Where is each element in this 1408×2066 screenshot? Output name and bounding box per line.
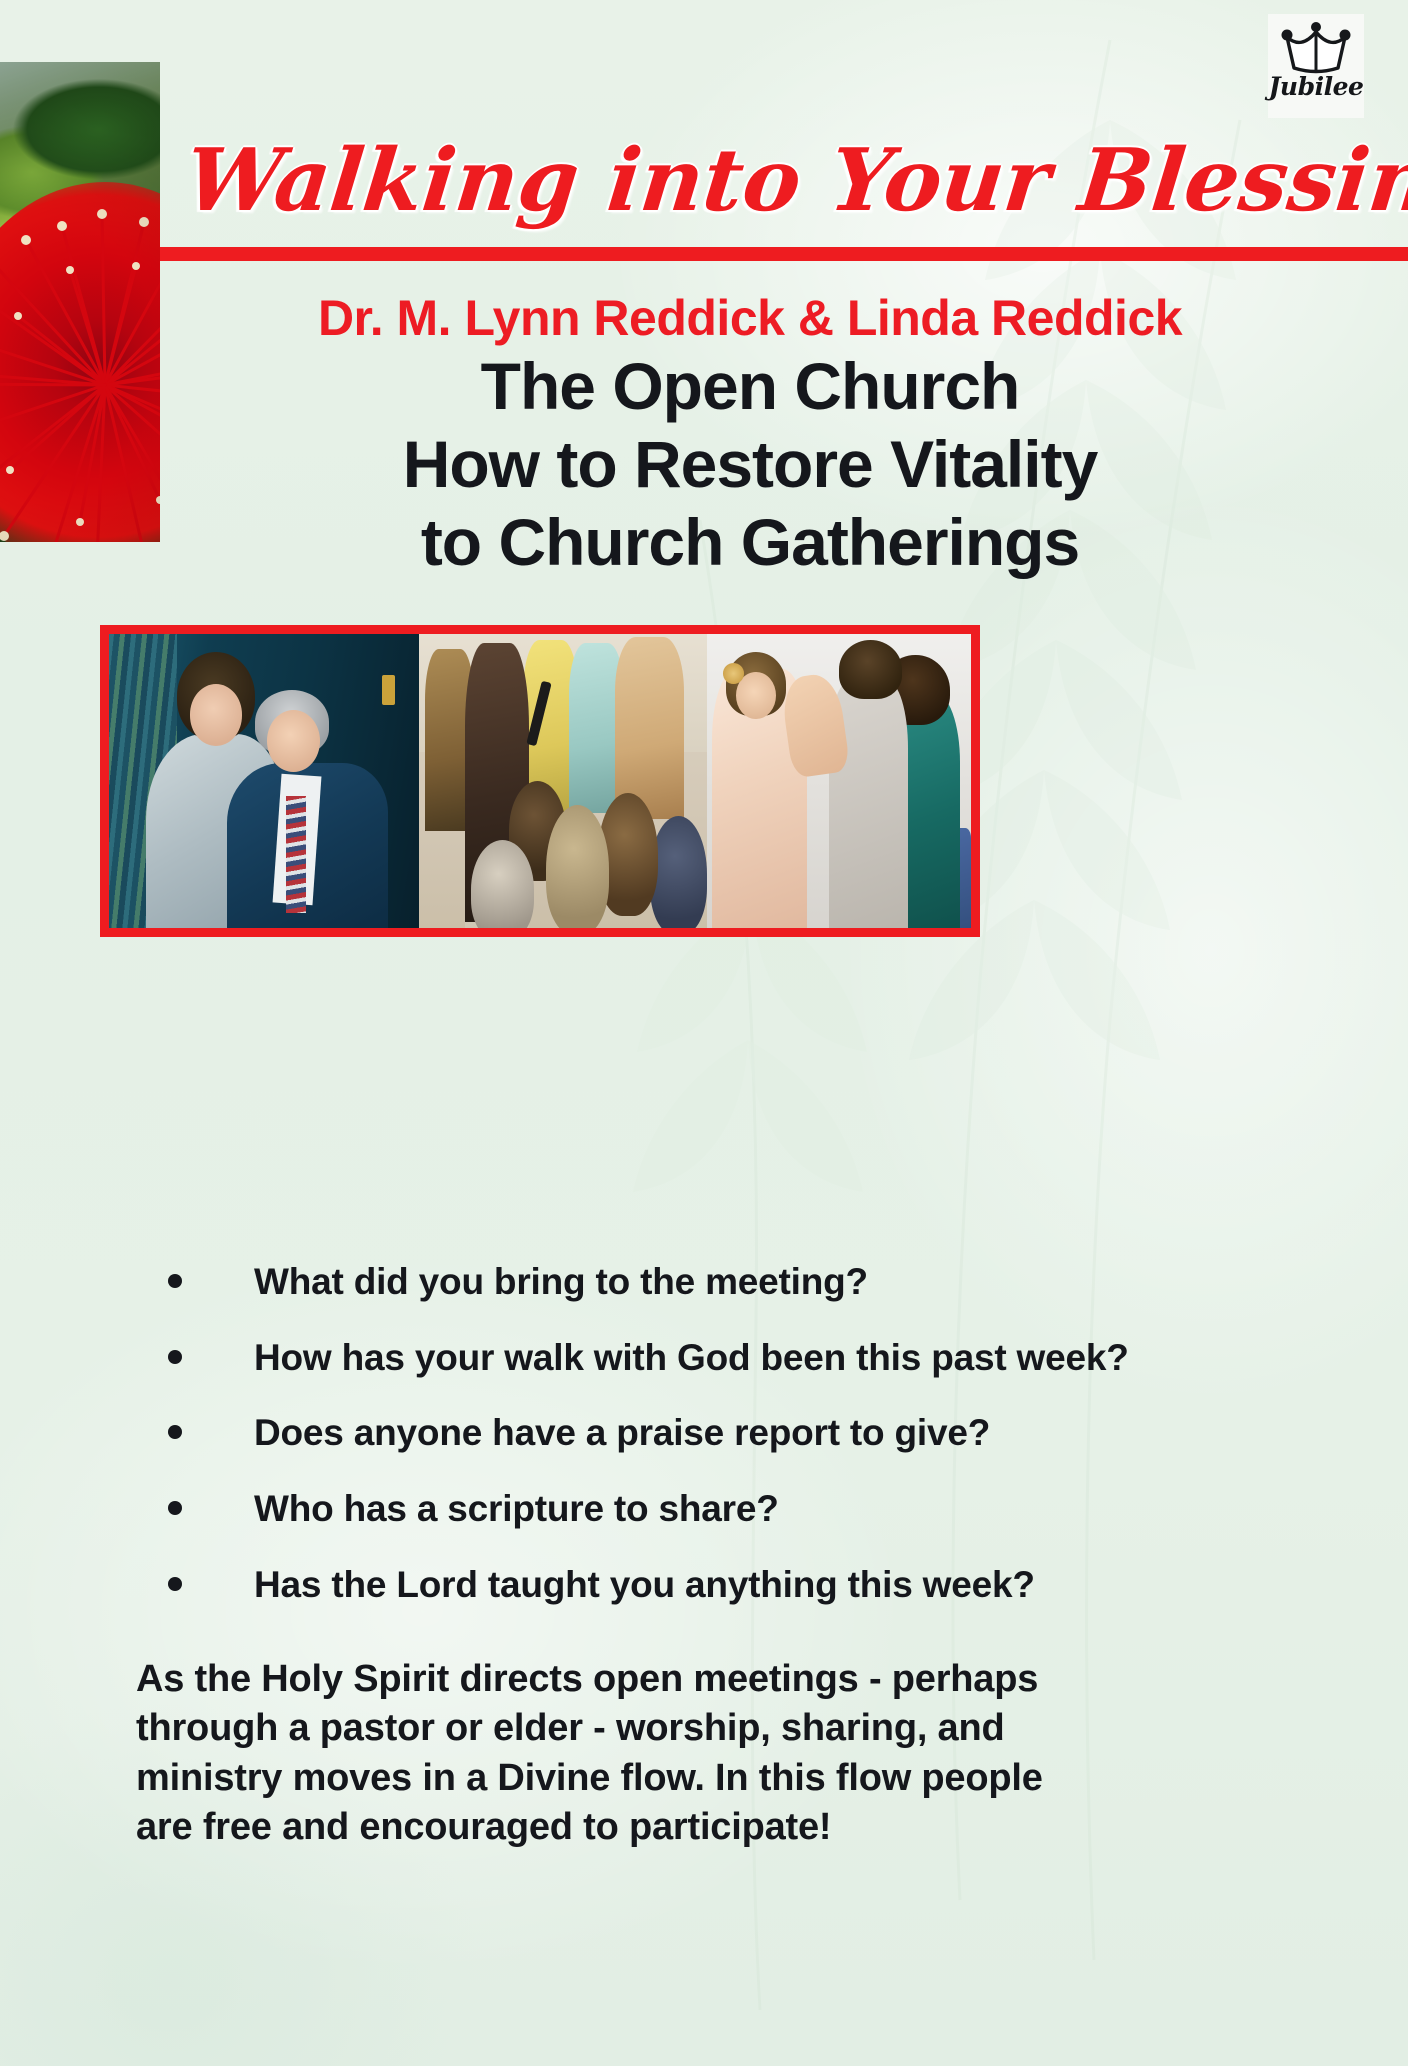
bullet-dot-icon [168, 1425, 182, 1439]
paragraph-line-1: As the Holy Spirit directs open meetings… [136, 1655, 1316, 1704]
title-line-1: The Open Church [160, 348, 1340, 426]
bullet-label: Has the Lord taught you anything this we… [254, 1565, 1035, 1606]
photo-couple-portrait [109, 634, 419, 928]
bullet-dot-icon [168, 1577, 182, 1591]
title-divider [160, 247, 1408, 261]
paragraph-line-4: are free and encouraged to participate! [136, 1803, 1316, 1852]
title-line-2: How to Restore Vitality [160, 426, 1340, 504]
photo2-audience-head-2 [546, 805, 609, 928]
photo2-figure-5 [615, 637, 684, 819]
list-item: How has your walk with God been this pas… [168, 1338, 1288, 1379]
pohutukawa-flower-photo [0, 62, 160, 542]
title-line-3: to Church Gatherings [160, 504, 1340, 582]
jubilee-logo: Jubilee [1268, 14, 1364, 118]
list-item: What did you bring to the meeting? [168, 1262, 1288, 1303]
authors-line: Dr. M. Lynn Reddick & Linda Reddick [160, 292, 1340, 345]
bullet-dot-icon [168, 1501, 182, 1515]
list-item: Has the Lord taught you anything this we… [168, 1565, 1288, 1606]
logo-wordmark: Jubilee [1269, 72, 1364, 101]
photo-group-meeting [419, 634, 707, 928]
list-item: Does anyone have a praise report to give… [168, 1413, 1288, 1454]
bullet-dot-icon [168, 1350, 182, 1364]
photo-prayer-ministry [707, 634, 971, 928]
photo1-lamp [382, 675, 394, 704]
bullet-label: How has your walk with God been this pas… [254, 1338, 1129, 1379]
flower-vignette [0, 62, 160, 542]
bullet-label: Who has a scripture to share? [254, 1489, 779, 1530]
paragraph-line-3: ministry moves in a Divine flow. In this… [136, 1754, 1316, 1803]
bullet-label: Does anyone have a praise report to give… [254, 1413, 990, 1454]
poster-root: Jubilee Walking into Your Blessings Dr. … [0, 0, 1408, 2066]
list-item: Who has a scripture to share? [168, 1489, 1288, 1530]
photo2-audience-head-5 [650, 816, 708, 928]
script-title: Walking into Your Blessings [181, 138, 1340, 224]
photo1-man-face [267, 710, 320, 772]
photo3-hair-flower [723, 663, 744, 684]
page-title: The Open Church How to Restore Vitality … [160, 348, 1340, 582]
discussion-questions-list: What did you bring to the meeting? How h… [168, 1262, 1288, 1640]
photo1-man-tie [286, 796, 306, 914]
body-paragraph: As the Holy Spirit directs open meetings… [136, 1655, 1316, 1853]
bullet-dot-icon [168, 1274, 182, 1288]
photo1-woman-face [190, 684, 243, 746]
bullet-label: What did you bring to the meeting? [254, 1262, 868, 1303]
photo-strip [100, 625, 980, 937]
photo3-woman-2-hair [839, 640, 902, 699]
crown-icon [1279, 20, 1353, 76]
paragraph-line-2: through a pastor or elder - worship, sha… [136, 1704, 1316, 1753]
